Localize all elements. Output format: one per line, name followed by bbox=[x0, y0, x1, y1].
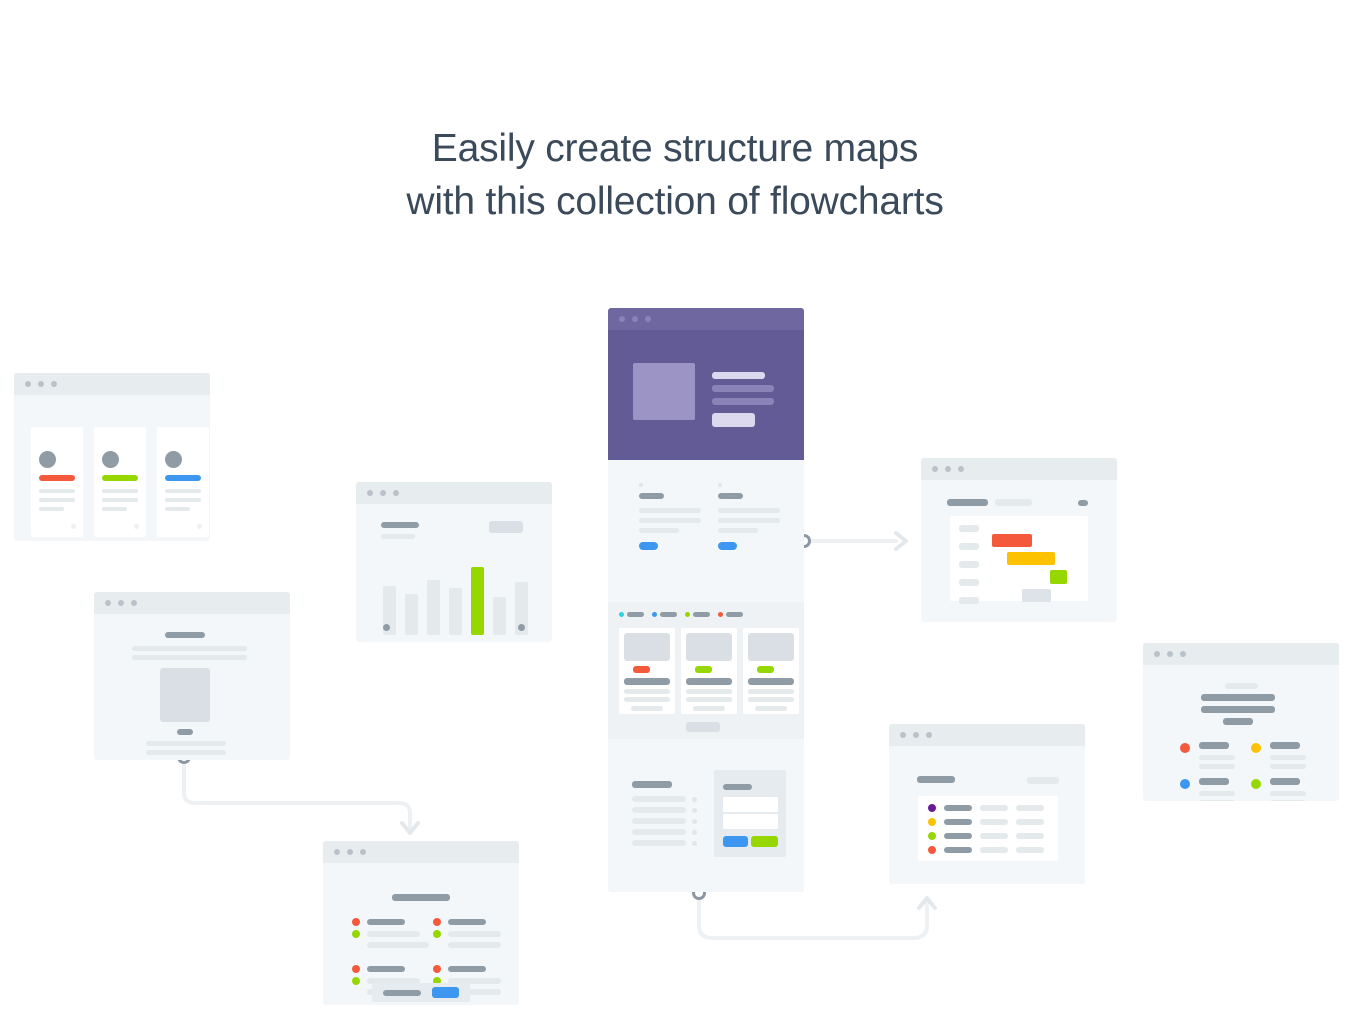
text-line bbox=[639, 518, 701, 523]
chart-filter-pill[interactable] bbox=[489, 521, 523, 533]
feature-dot-icon bbox=[1180, 779, 1190, 789]
section-list-and-form bbox=[608, 739, 804, 892]
text-line bbox=[39, 489, 75, 493]
heading-bar bbox=[165, 632, 205, 638]
form-secondary-button[interactable] bbox=[751, 836, 778, 847]
profile-card[interactable] bbox=[157, 427, 209, 537]
window-comparison-checklist[interactable] bbox=[323, 841, 519, 1005]
list-item[interactable] bbox=[632, 807, 697, 813]
form-submit-button[interactable] bbox=[723, 836, 748, 847]
legend-item bbox=[685, 612, 710, 617]
window-body bbox=[14, 395, 210, 541]
card-image bbox=[686, 633, 732, 661]
status-dot-icon bbox=[928, 846, 936, 854]
text-line bbox=[165, 489, 201, 493]
list-block bbox=[632, 781, 697, 846]
window-central-landing-page[interactable] bbox=[608, 308, 804, 892]
text-line bbox=[632, 807, 686, 813]
card-image bbox=[748, 633, 794, 661]
gantt-row-label bbox=[959, 543, 979, 550]
titlebar[interactable] bbox=[608, 308, 804, 330]
chart-subtitle-bar bbox=[381, 534, 415, 539]
page-title-line-2: with this collection of flowcharts bbox=[0, 175, 1350, 228]
list-item[interactable] bbox=[632, 829, 697, 835]
list-bullet-icon bbox=[692, 808, 697, 813]
titlebar-dot-icon bbox=[380, 490, 386, 496]
text-line bbox=[1270, 764, 1306, 769]
text-line bbox=[1199, 791, 1235, 796]
card-title-bar bbox=[624, 678, 670, 685]
titlebar[interactable] bbox=[94, 592, 290, 614]
hero-cta-button[interactable] bbox=[712, 413, 755, 427]
legend-dot-icon bbox=[718, 612, 723, 617]
profile-card[interactable] bbox=[31, 427, 83, 537]
text-line bbox=[1199, 764, 1235, 769]
legend-dot-icon bbox=[685, 612, 690, 617]
titlebar-dot-icon bbox=[926, 732, 932, 738]
text-line bbox=[132, 655, 247, 660]
card-footer-bar bbox=[755, 706, 787, 711]
gantt-subtitle-bar bbox=[995, 499, 1032, 506]
text-line bbox=[39, 498, 75, 502]
heading-bar bbox=[1223, 718, 1253, 725]
avatar bbox=[102, 451, 119, 468]
footer-label-bar bbox=[383, 990, 421, 996]
table-cell bbox=[980, 833, 1008, 839]
heading-bar bbox=[392, 894, 450, 901]
table-cell bbox=[980, 819, 1008, 825]
image-placeholder bbox=[160, 668, 210, 722]
form-input[interactable] bbox=[723, 797, 778, 812]
table-cell bbox=[944, 805, 972, 811]
text-line bbox=[165, 507, 190, 511]
gantt-task-bar[interactable] bbox=[1050, 570, 1067, 584]
chart-bar bbox=[493, 597, 506, 635]
section-two-column-features bbox=[608, 460, 804, 602]
table-row[interactable] bbox=[928, 818, 1044, 826]
legend-item bbox=[619, 612, 644, 617]
window-feature-grid[interactable] bbox=[1143, 643, 1339, 801]
connector-central-to-table bbox=[685, 888, 955, 958]
feature-column bbox=[639, 483, 701, 550]
list-heading-bar bbox=[632, 781, 672, 788]
gantt-task-bar[interactable] bbox=[1022, 589, 1051, 602]
window-body bbox=[356, 504, 552, 642]
text-line bbox=[1199, 755, 1235, 760]
heading-bar bbox=[1201, 706, 1275, 713]
footer-bar bbox=[372, 983, 470, 1002]
grid-card[interactable] bbox=[619, 628, 675, 714]
section-card-grid bbox=[608, 602, 804, 739]
list-bullet-icon bbox=[692, 841, 697, 846]
text-line bbox=[686, 689, 732, 694]
chart-title-bar bbox=[381, 522, 419, 528]
icon-dot bbox=[718, 483, 722, 487]
item-title-bar bbox=[367, 919, 405, 925]
titlebar-dot-icon bbox=[25, 381, 31, 387]
titlebar-dot-icon bbox=[945, 466, 951, 472]
titlebar[interactable] bbox=[889, 724, 1085, 746]
window-body bbox=[608, 330, 804, 892]
gantt-row-label bbox=[959, 597, 979, 604]
titlebar[interactable] bbox=[921, 458, 1117, 480]
text-line bbox=[102, 507, 127, 511]
subheading-bar bbox=[177, 729, 193, 735]
gantt-task-bar[interactable] bbox=[992, 534, 1032, 547]
legend-label-bar bbox=[660, 612, 677, 617]
table-cell bbox=[944, 819, 972, 825]
grid-card[interactable] bbox=[681, 628, 737, 714]
titlebar-dot-icon bbox=[105, 600, 111, 606]
text-line bbox=[718, 508, 780, 513]
section-hero bbox=[608, 330, 804, 460]
accent-bar bbox=[102, 475, 138, 481]
card-image bbox=[624, 633, 670, 661]
titlebar-dot-icon bbox=[632, 316, 638, 322]
card-footer-bar bbox=[631, 706, 663, 711]
text-line bbox=[718, 528, 758, 533]
chart-bar bbox=[405, 594, 418, 635]
gantt-task-bar[interactable] bbox=[1007, 552, 1055, 565]
list-item[interactable] bbox=[632, 840, 697, 846]
status-dot-icon bbox=[352, 918, 360, 926]
text-line bbox=[1270, 791, 1306, 796]
table-cell bbox=[1016, 847, 1044, 853]
text-line bbox=[624, 697, 670, 702]
titlebar-dot-icon bbox=[1167, 651, 1173, 657]
footer-cta-button[interactable] bbox=[432, 987, 459, 998]
checklist-group[interactable] bbox=[352, 918, 429, 948]
text-line bbox=[639, 528, 679, 533]
titlebar-dot-icon bbox=[38, 381, 44, 387]
text-line bbox=[632, 818, 686, 824]
legend-item bbox=[652, 612, 677, 617]
legend-label-bar bbox=[693, 612, 710, 617]
text-line bbox=[624, 689, 670, 694]
text-line bbox=[102, 489, 138, 493]
text-line bbox=[748, 697, 794, 702]
card-footer-bar bbox=[693, 706, 725, 711]
titlebar-dot-icon bbox=[932, 466, 938, 472]
legend-dot-icon bbox=[652, 612, 657, 617]
titlebar-dot-icon bbox=[51, 381, 57, 387]
avatar bbox=[39, 451, 56, 468]
window-body bbox=[1143, 665, 1339, 801]
titlebar-dot-icon bbox=[393, 490, 399, 496]
status-dot-icon bbox=[352, 977, 360, 985]
form-panel bbox=[714, 770, 786, 857]
item-title-bar bbox=[448, 966, 486, 972]
table-action-pill[interactable] bbox=[1027, 777, 1059, 784]
legend-label-bar bbox=[627, 612, 644, 617]
status-dot-icon bbox=[928, 804, 936, 812]
titlebar-dot-icon bbox=[1154, 651, 1160, 657]
text-line bbox=[367, 942, 429, 948]
legend-row bbox=[619, 612, 743, 617]
gantt-row-label bbox=[959, 525, 979, 532]
text-line bbox=[367, 931, 420, 937]
hero-text-line bbox=[712, 398, 774, 405]
flowchart-illustration: Easily create structure maps with this c… bbox=[0, 0, 1350, 1020]
card-row bbox=[31, 427, 209, 537]
text-line bbox=[132, 646, 247, 651]
table-cell bbox=[944, 847, 972, 853]
chart-marker-icon bbox=[518, 624, 525, 631]
titlebar[interactable] bbox=[1143, 643, 1339, 665]
gantt-row-label bbox=[959, 579, 979, 586]
hero-text-line bbox=[712, 385, 774, 392]
card-title-bar bbox=[748, 678, 794, 685]
list-bullet-icon bbox=[692, 830, 697, 835]
list-item[interactable] bbox=[632, 796, 697, 802]
gantt-title-bar bbox=[947, 499, 988, 506]
list-bullet-icon bbox=[692, 819, 697, 824]
text-line bbox=[639, 508, 701, 513]
window-body bbox=[921, 480, 1117, 622]
titlebar-dot-icon bbox=[118, 600, 124, 606]
titlebar[interactable] bbox=[14, 373, 210, 395]
column-heading-bar bbox=[639, 493, 664, 499]
window-body bbox=[889, 746, 1085, 884]
window-body bbox=[94, 614, 290, 760]
form-input[interactable] bbox=[723, 814, 778, 829]
text-line bbox=[448, 942, 501, 948]
titlebar[interactable] bbox=[323, 841, 519, 863]
text-line bbox=[748, 689, 794, 694]
hero-text-line bbox=[712, 372, 765, 379]
window-article-detail[interactable] bbox=[94, 592, 290, 760]
text-line bbox=[102, 498, 138, 502]
titlebar[interactable] bbox=[356, 482, 552, 504]
table-cell bbox=[944, 833, 972, 839]
window-three-card-profiles[interactable] bbox=[14, 373, 210, 541]
card-tag bbox=[757, 666, 774, 673]
feature-title-bar bbox=[1270, 778, 1300, 785]
checklist-group[interactable] bbox=[433, 918, 501, 948]
window-body bbox=[323, 863, 519, 1005]
table-row[interactable] bbox=[928, 832, 1044, 840]
titlebar-dot-icon bbox=[913, 732, 919, 738]
item-title-bar bbox=[448, 919, 486, 925]
text-line bbox=[1270, 800, 1306, 801]
titlebar-dot-icon bbox=[334, 849, 340, 855]
text-line bbox=[632, 796, 686, 802]
window-bar-chart-report[interactable] bbox=[356, 482, 552, 642]
table-row[interactable] bbox=[928, 846, 1044, 854]
table-cell bbox=[980, 805, 1008, 811]
table-cell bbox=[1016, 805, 1044, 811]
connector-article-to-comparison bbox=[170, 745, 440, 845]
feature-item[interactable] bbox=[1251, 778, 1306, 801]
table-surface bbox=[918, 796, 1058, 861]
gantt-menu-pill[interactable] bbox=[1078, 500, 1088, 506]
titlebar-dot-icon bbox=[347, 849, 353, 855]
list-item[interactable] bbox=[632, 818, 697, 824]
grid-card[interactable] bbox=[743, 628, 799, 714]
grid-card-row bbox=[619, 628, 799, 714]
feature-title-bar bbox=[1199, 742, 1229, 749]
chart-bar bbox=[427, 580, 440, 635]
load-more-bar[interactable] bbox=[686, 722, 720, 732]
table-cell bbox=[1016, 833, 1044, 839]
text-line bbox=[1199, 800, 1235, 801]
hero-image-block bbox=[633, 363, 695, 420]
gantt-row-label bbox=[959, 561, 979, 568]
titlebar-dot-icon bbox=[367, 490, 373, 496]
titlebar-dot-icon bbox=[619, 316, 625, 322]
form-heading-bar bbox=[723, 784, 752, 790]
text-line bbox=[718, 518, 780, 523]
card-badge-icon bbox=[134, 524, 139, 529]
status-dot-icon bbox=[433, 918, 441, 926]
feature-item[interactable] bbox=[1180, 778, 1235, 801]
column-cta-button[interactable] bbox=[639, 542, 658, 550]
text-line bbox=[632, 829, 686, 835]
eyebrow-bar bbox=[1225, 683, 1258, 689]
card-badge-icon bbox=[197, 524, 202, 529]
feature-dot-icon bbox=[1251, 743, 1261, 753]
chart-bar bbox=[449, 588, 462, 635]
item-title-bar bbox=[367, 966, 405, 972]
text-line bbox=[1270, 755, 1306, 760]
status-dot-icon bbox=[433, 965, 441, 973]
titlebar-dot-icon bbox=[900, 732, 906, 738]
icon-dot bbox=[639, 483, 643, 487]
bar-chart bbox=[383, 550, 528, 635]
list-bullet-icon bbox=[692, 797, 697, 802]
text-line bbox=[165, 498, 201, 502]
legend-dot-icon bbox=[619, 612, 624, 617]
window-status-table[interactable] bbox=[889, 724, 1085, 884]
feature-title-bar bbox=[1199, 778, 1229, 785]
chart-marker-icon bbox=[383, 624, 390, 631]
heading-bar bbox=[1201, 694, 1275, 701]
titlebar-dot-icon bbox=[1180, 651, 1186, 657]
avatar bbox=[165, 451, 182, 468]
status-dot-icon bbox=[352, 930, 360, 938]
page-title: Easily create structure maps with this c… bbox=[0, 122, 1350, 228]
titlebar-dot-icon bbox=[131, 600, 137, 606]
text-line bbox=[146, 750, 226, 755]
text-line bbox=[448, 931, 501, 937]
text-line bbox=[686, 697, 732, 702]
status-dot-icon bbox=[352, 965, 360, 973]
column-cta-button[interactable] bbox=[718, 542, 737, 550]
status-dot-icon bbox=[928, 832, 936, 840]
legend-label-bar bbox=[726, 612, 743, 617]
feature-item[interactable] bbox=[1251, 742, 1306, 769]
feature-item[interactable] bbox=[1180, 742, 1235, 769]
text-line bbox=[632, 840, 686, 846]
card-badge-icon bbox=[71, 524, 76, 529]
column-heading-bar bbox=[718, 493, 743, 499]
feature-title-bar bbox=[1270, 742, 1300, 749]
feature-dot-icon bbox=[1251, 779, 1261, 789]
card-tag bbox=[695, 666, 712, 673]
page-title-line-1: Easily create structure maps bbox=[0, 122, 1350, 175]
chart-bar bbox=[471, 567, 484, 635]
table-cell bbox=[1016, 819, 1044, 825]
table-title-bar bbox=[917, 776, 955, 783]
window-gantt-timeline[interactable] bbox=[921, 458, 1117, 622]
text-line bbox=[39, 507, 64, 511]
feature-dot-icon bbox=[1180, 743, 1190, 753]
card-title-bar bbox=[686, 678, 732, 685]
gantt-canvas bbox=[950, 516, 1088, 601]
connector-central-to-gantt bbox=[800, 525, 920, 565]
titlebar-dot-icon bbox=[360, 849, 366, 855]
card-tag bbox=[633, 666, 650, 673]
table-row[interactable] bbox=[928, 804, 1044, 812]
table-cell bbox=[980, 847, 1008, 853]
accent-bar bbox=[165, 475, 201, 481]
titlebar-dot-icon bbox=[958, 466, 964, 472]
status-dot-icon bbox=[928, 818, 936, 826]
text-line bbox=[146, 741, 226, 746]
legend-item bbox=[718, 612, 743, 617]
status-dot-icon bbox=[433, 930, 441, 938]
accent-bar bbox=[39, 475, 75, 481]
profile-card[interactable] bbox=[94, 427, 146, 537]
feature-column bbox=[718, 483, 780, 550]
titlebar-dot-icon bbox=[645, 316, 651, 322]
